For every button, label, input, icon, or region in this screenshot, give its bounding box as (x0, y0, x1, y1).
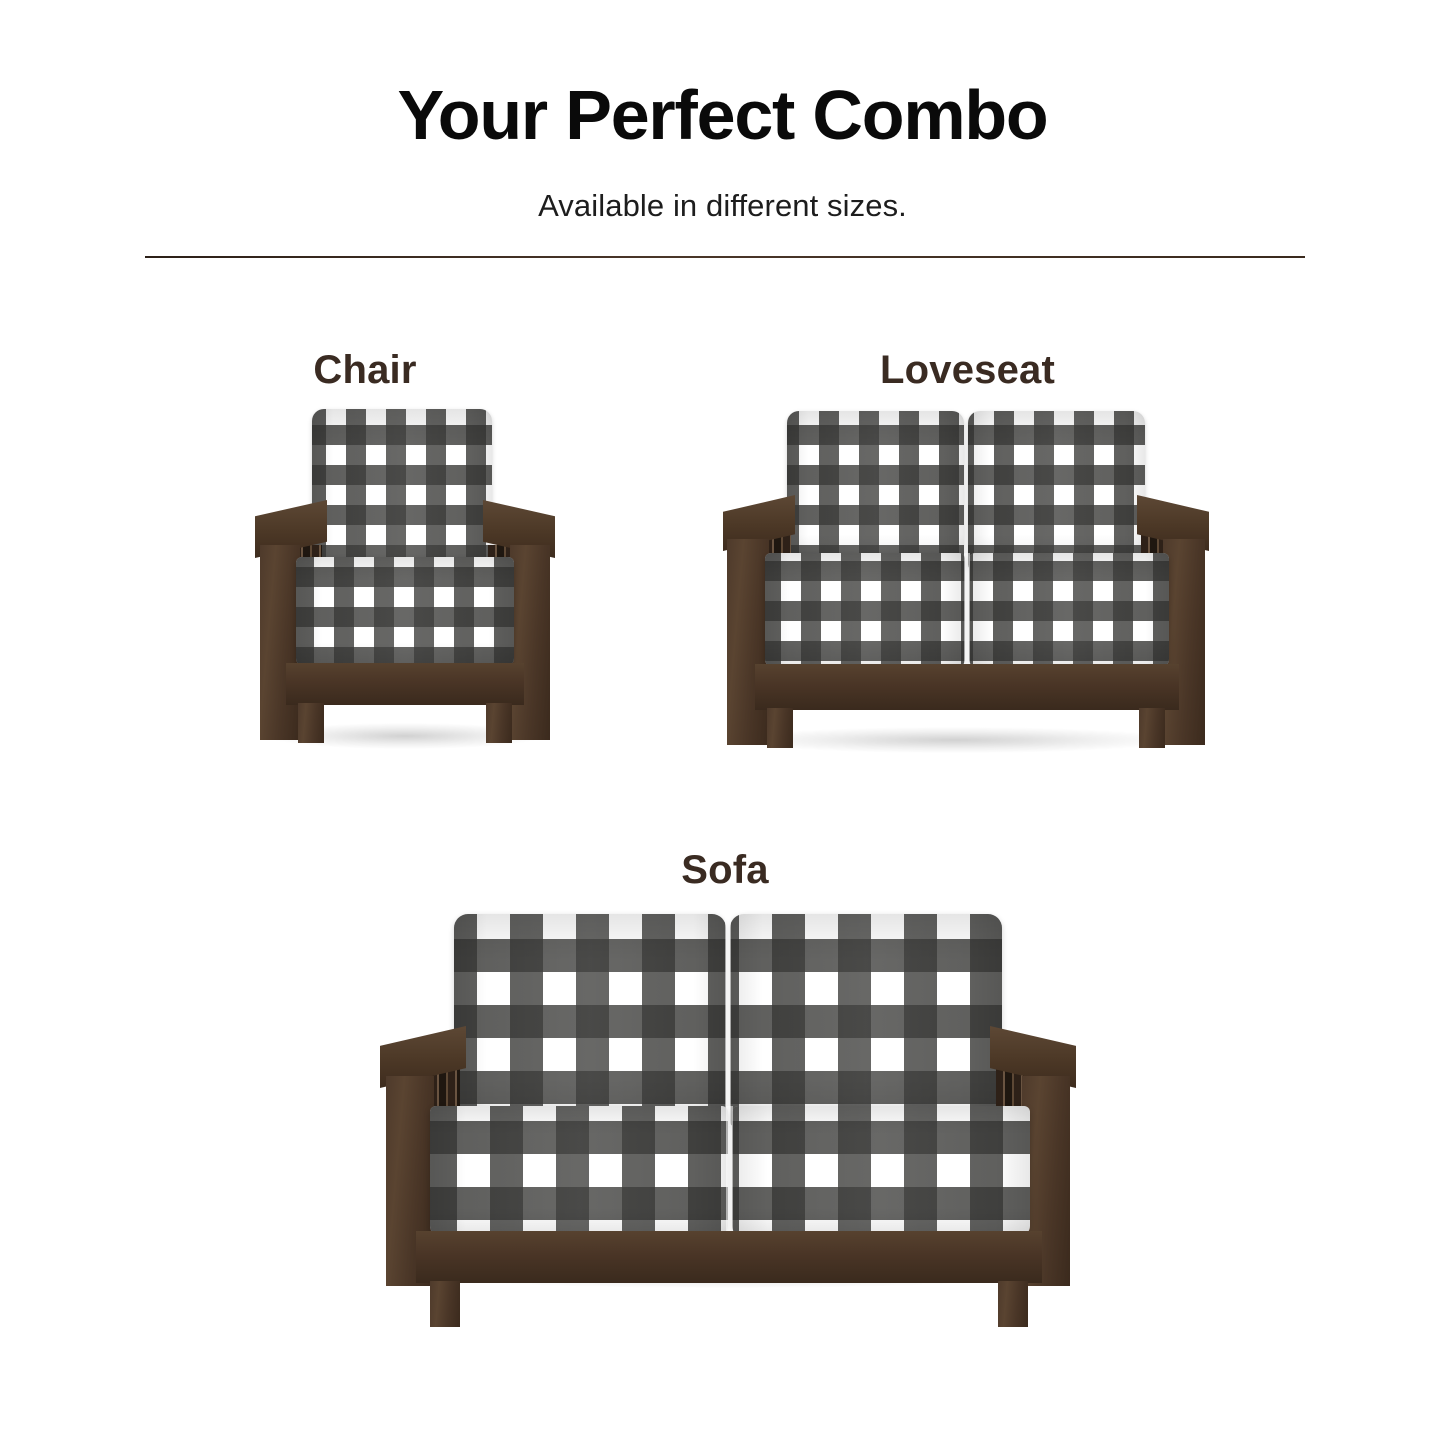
product-image-loveseat[interactable] (715, 405, 1195, 755)
sofa-leg-front-left (430, 1281, 460, 1327)
loveseat-back-cushion-left (787, 411, 964, 569)
loveseat-leg-front-right (1139, 708, 1165, 748)
page-subtitle: Available in different sizes. (0, 150, 1445, 224)
loveseat-seat-cushion-left (765, 553, 965, 668)
product-label-sofa: Sofa (375, 848, 1075, 893)
chair-post-right (510, 545, 550, 740)
loveseat-leg-front-left (767, 708, 793, 748)
sofa-back-cushion-left (454, 914, 726, 1126)
infographic-page: Your Perfect Combo Available in differen… (0, 0, 1445, 1445)
header-divider (145, 256, 1305, 258)
page-title: Your Perfect Combo (0, 80, 1445, 150)
chair-seat-cushion (296, 557, 514, 667)
product-label-loveseat: Loveseat (720, 348, 1215, 393)
chair-front-rail (286, 663, 524, 705)
chair-post-left (260, 545, 300, 740)
product-image-sofa[interactable] (372, 908, 1082, 1290)
sofa-seat-cushion-left (430, 1106, 728, 1236)
sofa-front-rail (416, 1231, 1042, 1283)
loveseat-seat-cushion-right (969, 553, 1169, 668)
sofa-leg-front-right (998, 1281, 1028, 1327)
loveseat-front-rail (755, 664, 1179, 710)
loveseat-post-right (1163, 539, 1205, 745)
product-label-chair: Chair (165, 348, 565, 393)
header: Your Perfect Combo Available in differen… (0, 80, 1445, 224)
sofa-back-cushion-right (730, 914, 1002, 1126)
chair-leg-front-right (486, 703, 512, 743)
chair-leg-front-left (298, 703, 324, 743)
loveseat-post-left (727, 539, 769, 745)
loveseat-floor-shadow (735, 727, 1175, 753)
loveseat-back-cushion-right (968, 411, 1145, 569)
sofa-seat-cushion-right (732, 1106, 1030, 1236)
product-image-chair[interactable] (250, 405, 560, 750)
